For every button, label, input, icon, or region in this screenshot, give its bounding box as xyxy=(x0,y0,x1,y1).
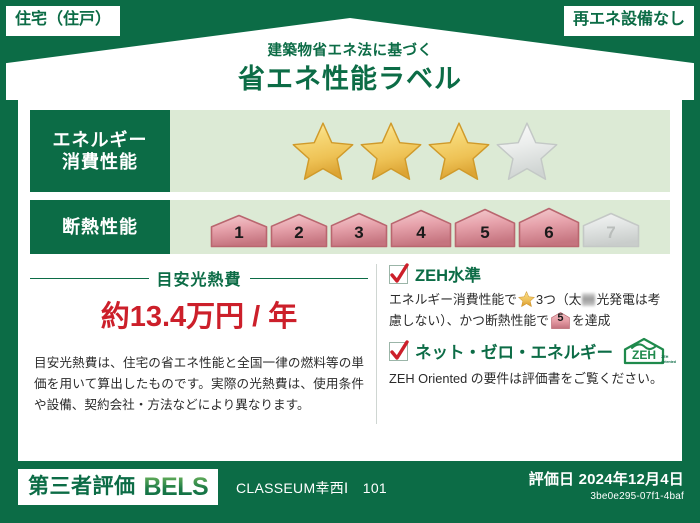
cost-heading: 目安光熱費 xyxy=(30,266,368,290)
evaluation-info: 評価日 2024年12月4日 3be0e295-07f1-4baf xyxy=(529,470,684,504)
house-grade-filled: 6 xyxy=(518,207,580,248)
star-filled-icon xyxy=(292,121,354,181)
cost-disclaimer-text: 目安光熱費は、住宅の省エネ性能と全国一律の燃料等の単価を用いて算出したものです。… xyxy=(30,353,368,416)
star-filled-icon xyxy=(428,121,490,181)
building-name: CLASSEUM幸西Ⅰ 101 xyxy=(236,478,387,498)
zeh-body-part2: 3つ（太 xyxy=(536,292,582,307)
net-zero-body: ZEH Oriented の要件は評価書をご覧ください。 xyxy=(389,368,670,389)
house-grade-filled: 5 xyxy=(454,208,516,248)
third-party-evaluation-label: 第三者評価 xyxy=(28,475,136,499)
evaluation-date: 評価日 2024年12月4日 xyxy=(529,470,684,489)
header-block: 建築物省エネ法に基づく 省エネ性能ラベル xyxy=(0,42,700,96)
star-filled-icon xyxy=(360,121,422,181)
row-insulation-performance: 断熱性能 1234567 xyxy=(30,200,670,254)
house-icon xyxy=(210,214,268,248)
zeh-body-part1: エネルギー消費性能で xyxy=(389,292,517,307)
zeh-level-body: エネルギー消費性能で3つ（太光発電は考慮しない）、かつ断熱性能で5を達成 xyxy=(389,289,670,331)
main-panel: エネルギー 消費性能 断熱性能 1234567 目安光熱費 xyxy=(18,100,682,461)
star-rating xyxy=(292,121,558,181)
energy-performance-value xyxy=(170,110,670,192)
page-title: 省エネ性能ラベル xyxy=(0,62,700,96)
zeh-oriented-logo: ZEH ZEH Oriented xyxy=(622,337,670,365)
column-divider xyxy=(376,264,377,424)
energy-label-line1: エネルギー xyxy=(53,129,148,151)
redacted-character xyxy=(582,293,595,306)
zeh-oriented-sublabel: ZEH Oriented xyxy=(661,355,676,364)
zeh-level-head: ZEH水準 xyxy=(389,262,670,286)
zeh-sub-line2: Oriented xyxy=(661,360,676,364)
header-subtitle: 建築物省エネ法に基づく xyxy=(0,42,700,60)
bottom-columns: 目安光熱費 約13.4万円 / 年 目安光熱費は、住宅の省エネ性能と全国一律の燃… xyxy=(30,262,670,430)
zeh-body-part4: を達成 xyxy=(572,313,610,328)
zeh-level-title: ZEH水準 xyxy=(415,262,481,286)
bels-plate: 第三者評価 BELS xyxy=(18,469,218,505)
insulation-grade-scale: 1234567 xyxy=(210,207,640,248)
cost-heading-text: 目安光熱費 xyxy=(157,266,242,290)
utility-cost-column: 目安光熱費 約13.4万円 / 年 目安光熱費は、住宅の省エネ性能と全国一律の燃… xyxy=(30,262,376,430)
energy-label-line2: 消費性能 xyxy=(62,151,138,173)
inline-house-grade-icon: 5 xyxy=(551,312,570,329)
checkbox-checked-icon[interactable] xyxy=(389,265,408,284)
house-grade-filled: 4 xyxy=(390,209,452,248)
star-empty-icon xyxy=(496,121,558,181)
inline-house-grade-number: 5 xyxy=(551,308,570,329)
check-item-zeh-level: ZEH水準 エネルギー消費性能で3つ（太光発電は考慮しない）、かつ断熱性能で5を… xyxy=(389,262,670,331)
inline-star-icon xyxy=(518,291,535,307)
house-icon xyxy=(518,207,580,248)
row-energy-performance: エネルギー 消費性能 xyxy=(30,110,670,192)
estimated-utility-cost: 約13.4万円 / 年 xyxy=(30,299,368,335)
tag-dwelling-type: 住宅（住戸） xyxy=(6,6,120,36)
house-grade-filled: 2 xyxy=(270,213,328,248)
bels-energy-label: 住宅（住戸） 再エネ設備なし 建築物省エネ法に基づく 省エネ性能ラベル エネルギ… xyxy=(0,0,700,523)
house-icon xyxy=(582,212,640,248)
cost-rule-right xyxy=(250,278,369,279)
tag-renewable-equipment: 再エネ設備なし xyxy=(564,6,694,36)
checkbox-checked-icon[interactable] xyxy=(389,342,408,361)
footer: 第三者評価 BELS CLASSEUM幸西Ⅰ 101 評価日 2024年12月4… xyxy=(0,461,700,523)
cost-rule-left xyxy=(30,278,149,279)
net-zero-title: ネット・ゼロ・エネルギー xyxy=(415,339,613,363)
house-grade-filled: 1 xyxy=(210,214,268,248)
check-item-net-zero-energy: ネット・ゼロ・エネルギー ZEH ZEH Oriented xyxy=(389,337,670,389)
energy-performance-label: エネルギー 消費性能 xyxy=(30,110,170,192)
zeh-column: ZEH水準 エネルギー消費性能で3つ（太光発電は考慮しない）、かつ断熱性能で5を… xyxy=(387,262,670,430)
insulation-label-line1: 断熱性能 xyxy=(62,216,138,238)
zeh-sub-line1: ZEH xyxy=(661,355,668,359)
house-icon xyxy=(454,208,516,248)
house-icon xyxy=(270,213,328,248)
house-icon xyxy=(390,209,452,248)
net-zero-head: ネット・ゼロ・エネルギー ZEH ZEH Oriented xyxy=(389,337,670,365)
svg-text:ZEH: ZEH xyxy=(632,348,656,362)
bels-logo-text: BELS xyxy=(144,475,209,500)
house-icon xyxy=(330,212,388,248)
house-grade-empty: 7 xyxy=(582,212,640,248)
evaluation-id: 3be0e295-07f1-4baf xyxy=(529,490,684,504)
insulation-performance-value: 1234567 xyxy=(170,200,670,254)
insulation-performance-label: 断熱性能 xyxy=(30,200,170,254)
house-grade-filled: 3 xyxy=(330,212,388,248)
